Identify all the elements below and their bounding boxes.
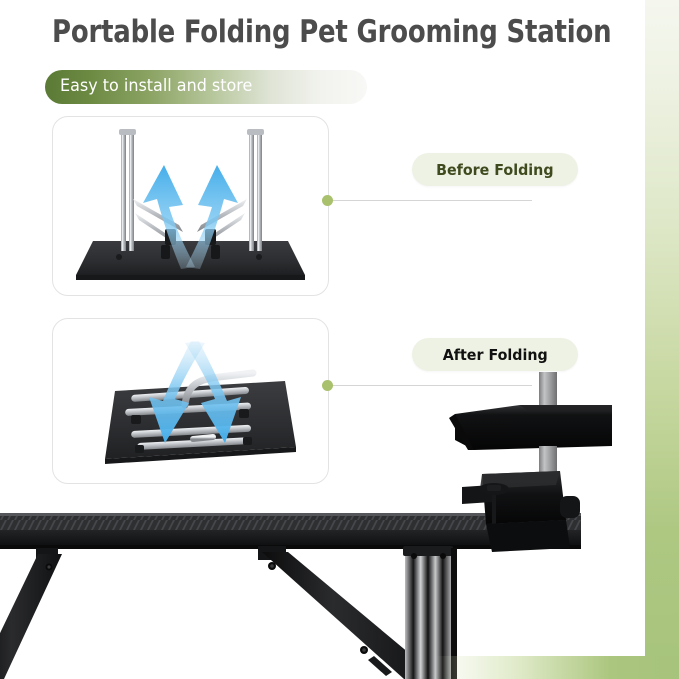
right-green-strip xyxy=(645,0,679,679)
callout-before-folding: Before Folding xyxy=(412,153,578,186)
callout-before-label: Before Folding xyxy=(436,161,553,179)
connector-line-after xyxy=(332,385,532,386)
bottom-green-band xyxy=(0,656,679,679)
connector-dot-after xyxy=(322,380,333,391)
callout-after-folding: After Folding xyxy=(412,338,578,371)
panel-before-folding xyxy=(52,116,329,296)
subtitle-label: Easy to install and store xyxy=(60,76,252,96)
callout-after-label: After Folding xyxy=(443,346,548,364)
panel-after-folding xyxy=(52,318,329,484)
before-folding-illustration xyxy=(53,117,328,295)
after-folding-illustration xyxy=(53,319,328,483)
connector-dot-before xyxy=(322,195,333,206)
connector-line-before xyxy=(332,200,532,201)
infographic-page: Portable Folding Pet Grooming Station Ea… xyxy=(0,0,679,679)
page-title: Portable Folding Pet Grooming Station xyxy=(52,14,611,50)
